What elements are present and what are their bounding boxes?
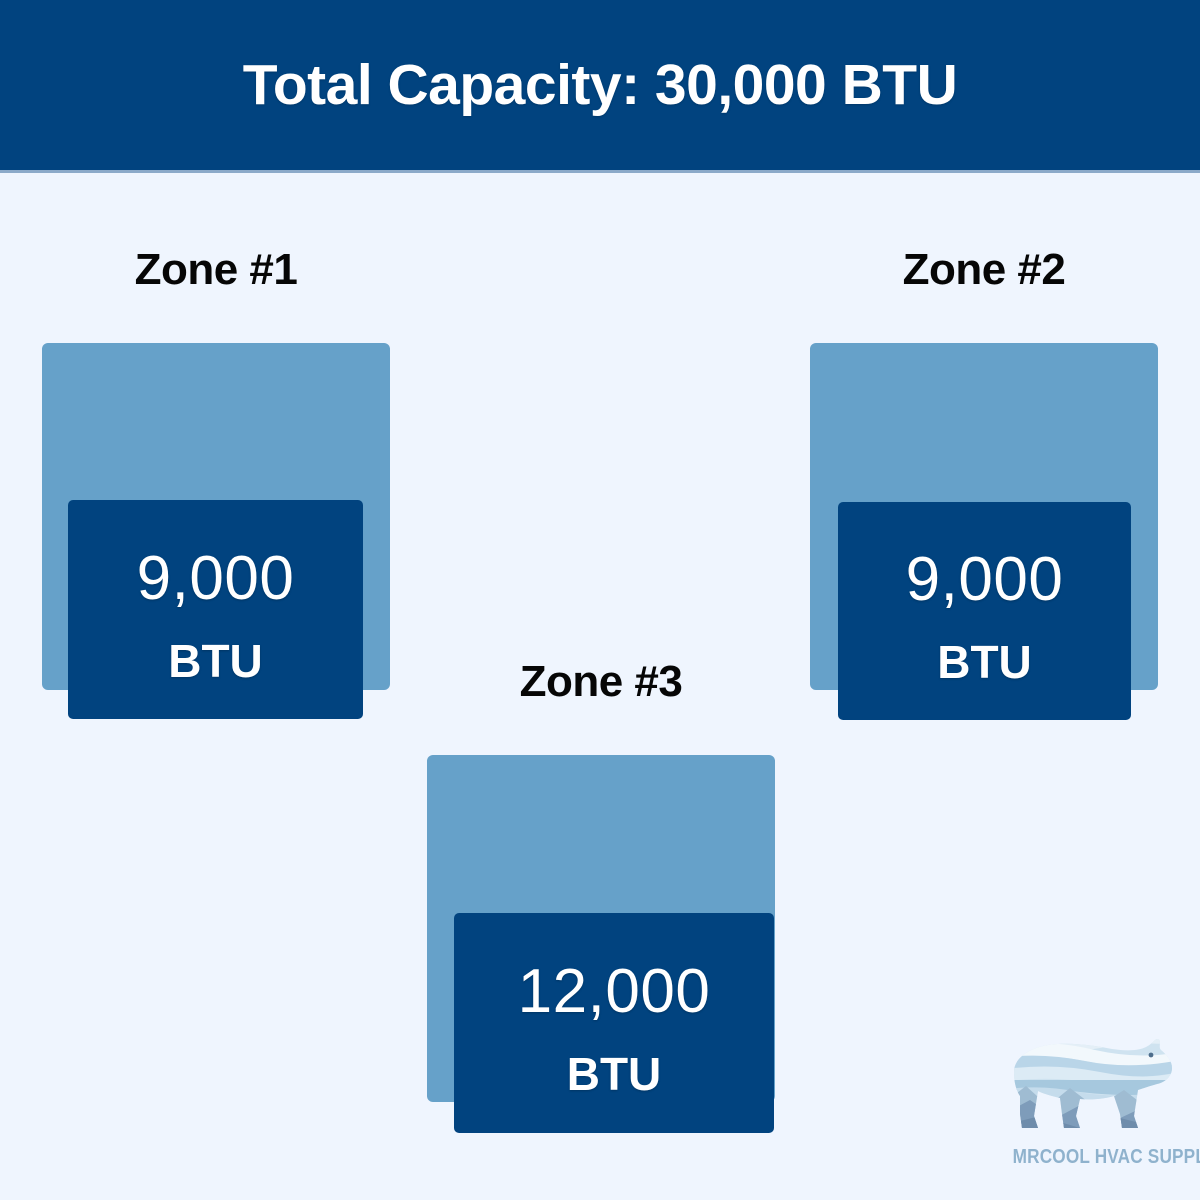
capacity-infographic: Total Capacity: 30,000 BTU Zone #1 9,000… [0, 0, 1200, 1200]
zone-card-1: Zone #1 9,000 BTU [42, 248, 390, 690]
bear-eye-icon [1149, 1053, 1154, 1058]
zone-btu-value-1: 9,000 [137, 548, 295, 610]
polar-bear-icon [1000, 1028, 1180, 1146]
zone-outer-box-1: 9,000 BTU [42, 343, 390, 690]
zone-outer-box-2: 9,000 BTU [810, 343, 1158, 690]
header-bar: Total Capacity: 30,000 BTU [0, 0, 1200, 170]
zone-btu-value-3: 12,000 [518, 961, 711, 1023]
header-divider [0, 170, 1200, 173]
zone-card-2: Zone #2 9,000 BTU [810, 248, 1158, 690]
zone-btu-value-2: 9,000 [906, 549, 1064, 611]
brand-logo-text: MRCOOL HVAC SUPPLY [1013, 1146, 1168, 1168]
zone-btu-unit-2: BTU [937, 639, 1032, 685]
zone-label-3: Zone #3 [427, 660, 775, 704]
zone-btu-unit-1: BTU [168, 638, 263, 684]
zone-card-3: Zone #3 12,000 BTU [427, 660, 775, 1102]
brand-logo: MRCOOL HVAC SUPPLY [1000, 1028, 1180, 1183]
zone-inner-box-1: 9,000 BTU [68, 500, 363, 719]
zone-inner-box-2: 9,000 BTU [838, 502, 1131, 720]
zone-inner-box-3: 12,000 BTU [454, 913, 774, 1133]
zone-label-2: Zone #2 [810, 248, 1158, 292]
zone-label-1: Zone #1 [42, 248, 390, 292]
zone-btu-unit-3: BTU [567, 1051, 662, 1097]
zone-outer-box-3: 12,000 BTU [427, 755, 775, 1102]
page-title: Total Capacity: 30,000 BTU [243, 57, 958, 114]
